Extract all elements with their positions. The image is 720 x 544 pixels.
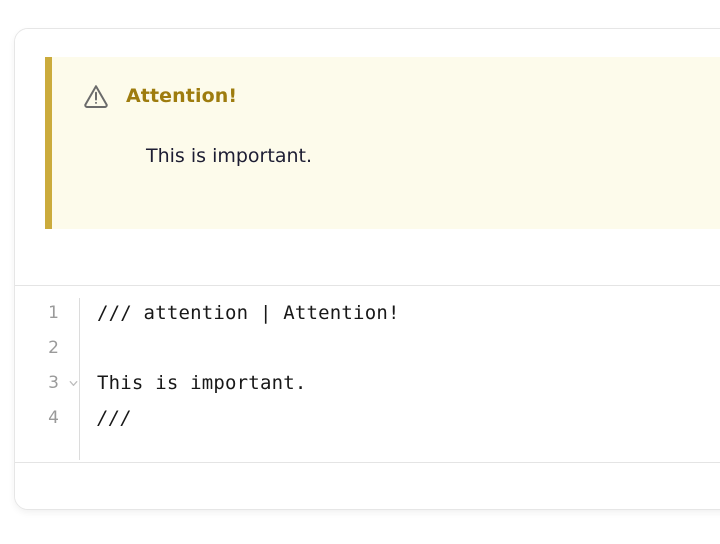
admonition-attention: Attention! This is important. bbox=[45, 57, 720, 229]
editor-content[interactable]: 1 /// attention | Attention! 2 3 This is… bbox=[15, 294, 720, 462]
preview-card: Attention! This is important. 1 /// atte… bbox=[14, 28, 720, 510]
page-root: Attention! This is important. 1 /// atte… bbox=[0, 0, 720, 544]
editor-footer-strip bbox=[15, 463, 720, 509]
line-number: 4 bbox=[15, 401, 59, 436]
line-number: 3 bbox=[15, 366, 59, 401]
warning-triangle-icon bbox=[82, 82, 110, 110]
admonition-title-row: Attention! bbox=[82, 82, 237, 110]
chevron-down-icon[interactable] bbox=[65, 366, 81, 401]
line-number: 2 bbox=[15, 331, 59, 366]
code-line[interactable]: 4 /// bbox=[15, 401, 720, 436]
line-content[interactable]: /// attention | Attention! bbox=[97, 296, 400, 331]
code-line[interactable]: 3 This is important. bbox=[15, 366, 720, 401]
line-number: 1 bbox=[15, 296, 59, 331]
code-line[interactable]: 1 /// attention | Attention! bbox=[15, 296, 720, 331]
code-line[interactable]: 2 bbox=[15, 331, 720, 366]
admonition-title: Attention! bbox=[126, 85, 237, 107]
rendered-preview-region: Attention! This is important. bbox=[15, 29, 720, 286]
admonition-body-text: This is important. bbox=[146, 145, 312, 167]
source-editor[interactable]: 1 /// attention | Attention! 2 3 This is… bbox=[15, 286, 720, 463]
line-content[interactable]: /// bbox=[97, 401, 132, 436]
line-content[interactable]: This is important. bbox=[97, 366, 307, 401]
